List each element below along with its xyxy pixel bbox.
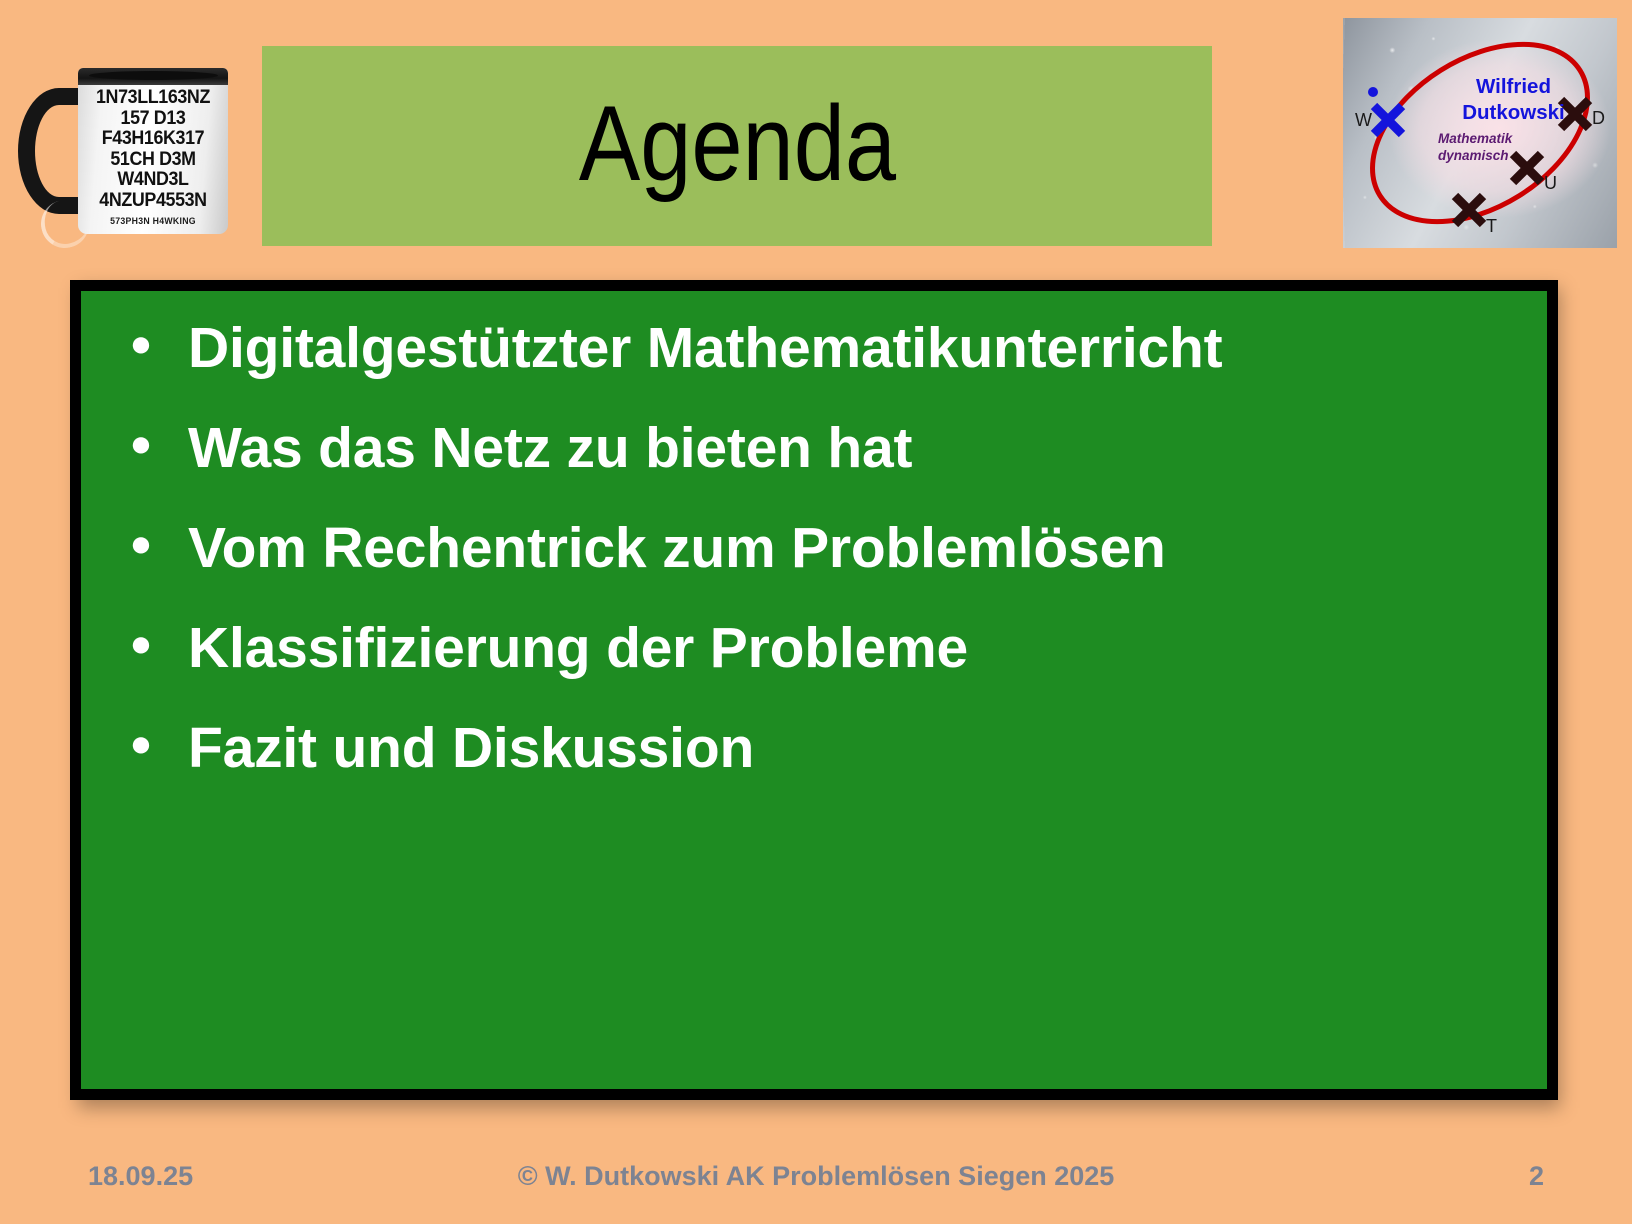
logo-tagline: Mathematik dynamisch — [1438, 130, 1568, 164]
mug-leet-text: 1N73LL163NZ 157 D13 F43H16K317 51CH D3M … — [83, 88, 224, 211]
slide-footer: 18.09.25 © W. Dutkowski AK Problemlösen … — [0, 1156, 1632, 1196]
mug-rim-inner — [89, 71, 218, 80]
logo-name-line-1: Wilfried — [1476, 75, 1551, 98]
list-item: Klassifizierung der Probleme — [111, 615, 1517, 681]
mug-attribution-text: 573PH3N H4WKING — [84, 216, 222, 227]
logo-name-line-2: Dutkowski — [1462, 101, 1565, 124]
content-box: Digitalgestützter Mathematikunterricht W… — [70, 280, 1558, 1100]
slide: 1N73LL163NZ 157 D13 F43H16K317 51CH D3M … — [0, 0, 1632, 1224]
mug-rim — [78, 68, 228, 85]
logo-presenter-name: Wilfried Dutkowski — [1431, 74, 1596, 126]
logo-tagline-line-2: dynamisch — [1438, 148, 1509, 163]
logo-point-label-t: T — [1486, 216, 1497, 237]
mug-body: 1N73LL163NZ 157 D13 F43H16K317 51CH D3M … — [78, 68, 228, 234]
mug-image: 1N73LL163NZ 157 D13 F43H16K317 51CH D3M … — [18, 60, 233, 238]
logo-point-label-w: W — [1355, 110, 1372, 131]
page-title: Agenda — [578, 90, 895, 203]
list-item: Vom Rechentrick zum Problemlösen — [111, 515, 1517, 581]
footer-page-number: 2 — [1529, 1156, 1544, 1196]
title-band: Agenda — [262, 46, 1212, 246]
list-item: Was das Netz zu bieten hat — [111, 415, 1517, 481]
agenda-bullet-list: Digitalgestützter Mathematikunterricht W… — [111, 315, 1517, 781]
logo-point-label-u: U — [1544, 173, 1557, 194]
list-item: Fazit und Diskussion — [111, 715, 1517, 781]
footer-copyright: © W. Dutkowski AK Problemlösen Siegen 20… — [0, 1156, 1632, 1196]
presenter-logo: W D U T Wilfried Dutkowski Mathematik dy… — [1343, 18, 1617, 248]
list-item: Digitalgestützter Mathematikunterricht — [111, 315, 1517, 381]
logo-tagline-line-1: Mathematik — [1438, 131, 1512, 146]
